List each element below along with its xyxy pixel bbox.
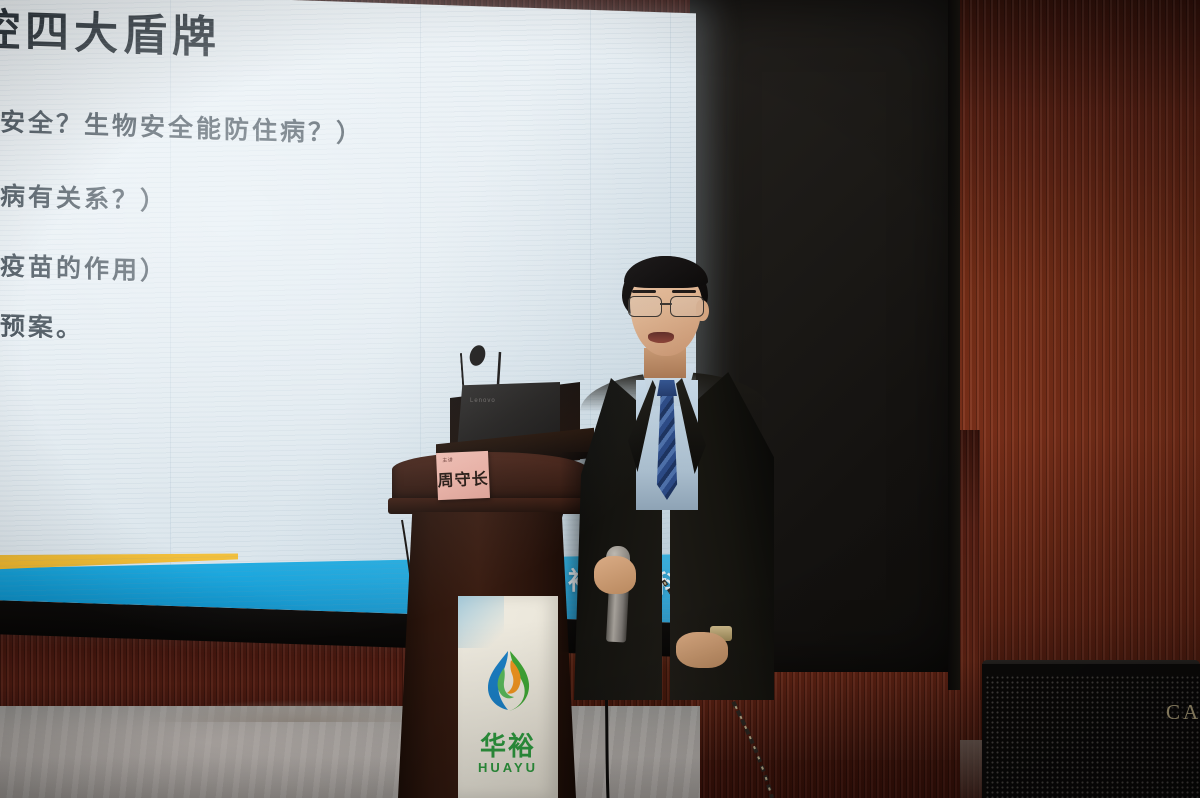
eyeglasses-lens-right xyxy=(670,296,704,317)
speaker-cabinet-brand: CA xyxy=(1166,700,1200,725)
presenter-tie-knot xyxy=(657,380,677,396)
slide-bullet-1: 物安全？生物安全能防住病？） xyxy=(0,101,364,150)
slide-bullet-2: 疾病有关系？） xyxy=(0,175,168,218)
slide-bullet-4: 故预案。 xyxy=(0,305,84,345)
eyeglasses-icon xyxy=(626,296,708,316)
podium-top xyxy=(392,452,588,504)
podium-panel-reflection xyxy=(458,596,504,648)
presenter-hair-front xyxy=(624,256,708,288)
slide-title: 控四大盾牌 xyxy=(0,0,221,66)
presenter-eyebrow-right xyxy=(672,290,696,293)
name-card-role-label: 主讲 xyxy=(442,456,453,463)
speaker-name-card: 主讲 周守长 xyxy=(436,451,490,500)
presenter-hand-holding-mic xyxy=(594,556,636,594)
laptop-brand-logo: Lenovo xyxy=(470,398,496,404)
huayu-logo-english: HUAYU xyxy=(458,760,558,775)
speaker-cabinet-grill xyxy=(986,676,1200,798)
huayu-logo-icon xyxy=(480,648,538,716)
presenter-eyebrow-left xyxy=(632,290,656,293)
presenter-hand-on-podium xyxy=(676,632,728,668)
eyeglasses-lens-left xyxy=(628,296,662,317)
presentation-photo-scene: 控四大盾牌 物安全？生物安全能防住病？） 疾病有关系？） 待疫苗的作用） 故预案… xyxy=(0,0,1200,798)
slide-bullet-3: 待疫苗的作用） xyxy=(0,245,168,288)
name-card-name: 周守长 xyxy=(437,465,490,491)
right-wall-panel xyxy=(955,0,1200,700)
presenter-mouth xyxy=(648,332,674,343)
dark-panel-edge xyxy=(948,0,960,690)
huayu-logo-chinese: 华裕 xyxy=(458,726,558,763)
presenter-person xyxy=(560,240,820,700)
